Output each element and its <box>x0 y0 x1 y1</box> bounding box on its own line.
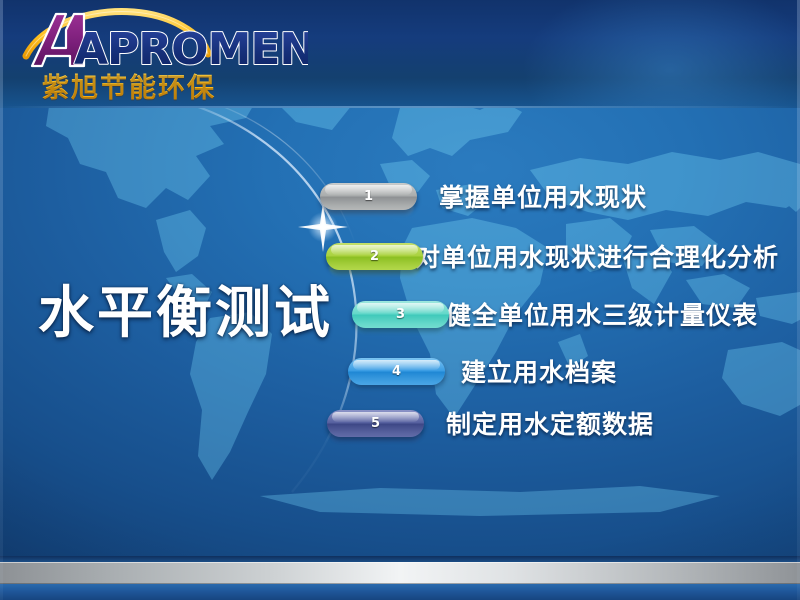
bullet-number: 1 <box>364 189 373 204</box>
bullet-label: 建立用水档案 <box>461 353 617 389</box>
bullet-list: 1 掌握单位用水现状 2 对单位用水现状进行合理化分析 3 健全单位用水三级计量… <box>0 0 800 600</box>
bullet-pill-3[interactable]: 3 <box>352 301 449 328</box>
bullet-pill-2[interactable]: 2 <box>326 243 423 270</box>
frame-left-edge <box>0 0 3 600</box>
list-item[interactable]: 1 掌握单位用水现状 <box>320 178 647 214</box>
bullet-number: 3 <box>396 307 405 322</box>
list-item[interactable]: 3 健全单位用水三级计量仪表 <box>352 296 758 332</box>
presentation-slide: APROMEN 紫旭节能环保 水平衡测试 1 掌握单位用水现状 <box>0 0 800 600</box>
footer-blue-bar <box>0 584 800 600</box>
bullet-label: 对单位用水现状进行合理化分析 <box>415 238 779 274</box>
footer-silver-bar <box>0 562 800 584</box>
list-item[interactable]: 4 建立用水档案 <box>348 353 617 389</box>
list-item[interactable]: 2 对单位用水现状进行合理化分析 <box>326 238 779 274</box>
bullet-label: 掌握单位用水现状 <box>439 178 647 214</box>
bullet-pill-5[interactable]: 5 <box>327 410 424 437</box>
bullet-number: 2 <box>370 249 379 264</box>
bullet-label: 健全单位用水三级计量仪表 <box>446 296 758 332</box>
bullet-pill-4[interactable]: 4 <box>348 358 445 385</box>
bullet-number: 4 <box>392 364 401 379</box>
list-item[interactable]: 5 制定用水定额数据 <box>327 405 654 441</box>
bullet-number: 5 <box>371 416 380 431</box>
footer-band <box>0 556 800 600</box>
bullet-label: 制定用水定额数据 <box>446 405 654 441</box>
bullet-pill-1[interactable]: 1 <box>320 183 417 210</box>
